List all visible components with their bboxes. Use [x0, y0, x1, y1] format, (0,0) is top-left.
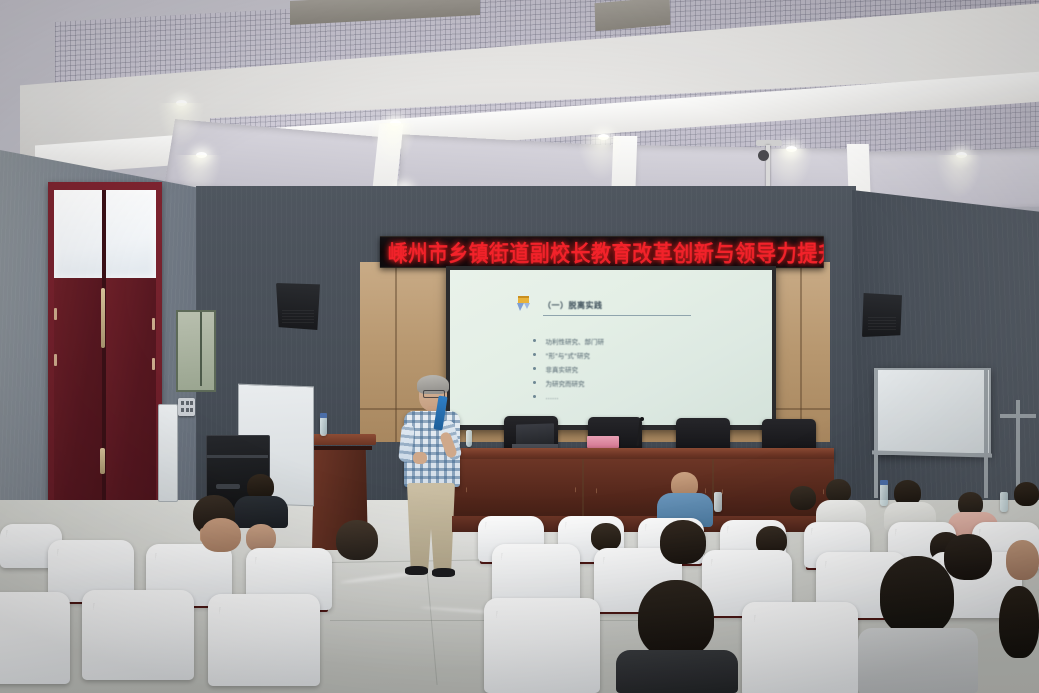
water-bottle-audience-2 — [714, 492, 722, 512]
door-center-gap — [102, 190, 106, 536]
head-table-joint-1 — [582, 459, 584, 517]
presenter-left-hand — [413, 452, 427, 464]
water-bottle-audience-1 — [880, 484, 888, 506]
whiteboard-right — [875, 368, 991, 455]
whiteboard-leg-right — [984, 370, 988, 498]
slide-bullet-5: …… — [533, 388, 558, 406]
rack-case-handle — [216, 484, 240, 489]
speaker-name-card — [587, 436, 619, 448]
door-hinge-right-upper — [152, 318, 155, 330]
water-bottle-cap-lectern — [320, 413, 327, 418]
seat-cover-r1-a[interactable] — [82, 590, 194, 680]
whiteboard-left-stand — [158, 404, 178, 502]
led-banner-text: 嵊州市乡镇街道副校长教育改革创新与领导力提升90学分培训 — [388, 236, 824, 268]
attendee-head-r3-1 — [591, 523, 621, 551]
desk-microphone-head — [640, 417, 644, 421]
rack-case-lid-seam — [206, 455, 268, 458]
wall-speaker-left — [276, 283, 320, 330]
whiteboard-leg-left — [874, 368, 878, 498]
slide-bullet-text: …… — [545, 393, 558, 401]
entrance-door-left-leaf[interactable] — [54, 278, 103, 536]
seat-cover-r1-e[interactable] — [742, 602, 858, 693]
tripod-stand-arm — [1000, 414, 1036, 418]
door-push-bar[interactable] — [101, 288, 105, 348]
ceiling-downlight-glow-7 — [766, 149, 812, 191]
lectern-shelf-slot — [306, 446, 372, 450]
door-hinge-lower — [54, 354, 57, 366]
slide-decoration-icon — [516, 294, 534, 312]
attendee-head-r1-4 — [999, 586, 1039, 658]
water-bottle-lectern — [320, 417, 327, 436]
ceiling-downlight-glow-8 — [936, 155, 982, 197]
wall-control-window — [176, 310, 216, 392]
slide-bullet-text: "形"与"式"研究 — [545, 350, 589, 360]
lecture-hall-photo: 嵊州市乡镇街道副校长教育改革创新与领导力提升90学分培训 （一）脱离实践 功利性… — [0, 0, 1039, 693]
bullet-marker-icon — [533, 395, 536, 398]
seat-cover-r1-d[interactable] — [484, 598, 600, 693]
entrance-door-right-leaf[interactable] — [106, 278, 156, 536]
presenter-shoe-right — [432, 568, 455, 577]
ceiling-downlight-glow-5 — [578, 137, 624, 179]
led-banner: 嵊州市乡镇街道副校长教育改革创新与领导力提升90学分培训 — [380, 236, 824, 268]
slide-bullet-text: 非真实研究 — [545, 364, 578, 374]
bullet-marker-icon — [533, 353, 536, 356]
door-lever-handle[interactable] — [100, 448, 105, 474]
projection-screen: （一）脱离实践 功利性研究、部门研 "形"与"式"研究 非真实研究 为研究而研究… — [450, 270, 772, 425]
bullet-marker-icon — [533, 339, 536, 342]
wall-power-outlet[interactable] — [178, 398, 195, 416]
wood-panel-seam-2 — [800, 262, 802, 442]
door-hinge-upper — [54, 308, 57, 320]
attendee-head-far-2 — [790, 486, 816, 510]
attendee-head-r1-1 — [638, 580, 714, 658]
slide-title: （一）脱离实践 — [543, 300, 603, 311]
attendee-torso-r1-1 — [616, 650, 738, 693]
door-hinge-right-lower — [152, 358, 155, 370]
attendee-head-r2-2 — [201, 518, 241, 552]
attendee-head-r1-2 — [880, 556, 954, 636]
seat-cover-r1-c[interactable] — [0, 592, 70, 684]
attendee-head-r2-3 — [336, 520, 378, 560]
water-bottle-cap-audience-1 — [880, 480, 888, 485]
water-bottle-audience-3 — [1000, 492, 1008, 512]
seat-cover-r1-b[interactable] — [208, 594, 320, 686]
attendee-head-r2-5 — [944, 534, 992, 580]
bullet-marker-icon — [533, 367, 536, 370]
wood-panel-seam-1 — [395, 262, 397, 442]
laptop-screen — [516, 423, 554, 445]
slide-title-underline — [543, 315, 691, 316]
wall-window-mullion — [200, 312, 202, 386]
right-wall — [852, 190, 1039, 520]
ceiling-downlight-glow-1 — [158, 103, 204, 145]
presenter-shoe-left — [405, 566, 428, 575]
projector-mount-joint — [758, 150, 769, 161]
attendee-head-r2-4 — [660, 520, 706, 564]
wall-speaker-right — [862, 293, 902, 337]
bullet-marker-icon — [533, 381, 536, 384]
attendee-head-r2-6 — [1006, 540, 1039, 580]
attendee-torso-r1-2 — [858, 628, 978, 693]
ceiling-downlight-glow-3 — [370, 123, 416, 165]
slide-bullet-text: 功利性研究、部门研 — [545, 336, 604, 346]
attendee-head-far-6 — [1014, 482, 1039, 506]
water-bottle-table — [466, 430, 472, 447]
slide-bullet-text: 为研究而研究 — [545, 378, 584, 388]
executive-chair-3 — [676, 418, 730, 452]
